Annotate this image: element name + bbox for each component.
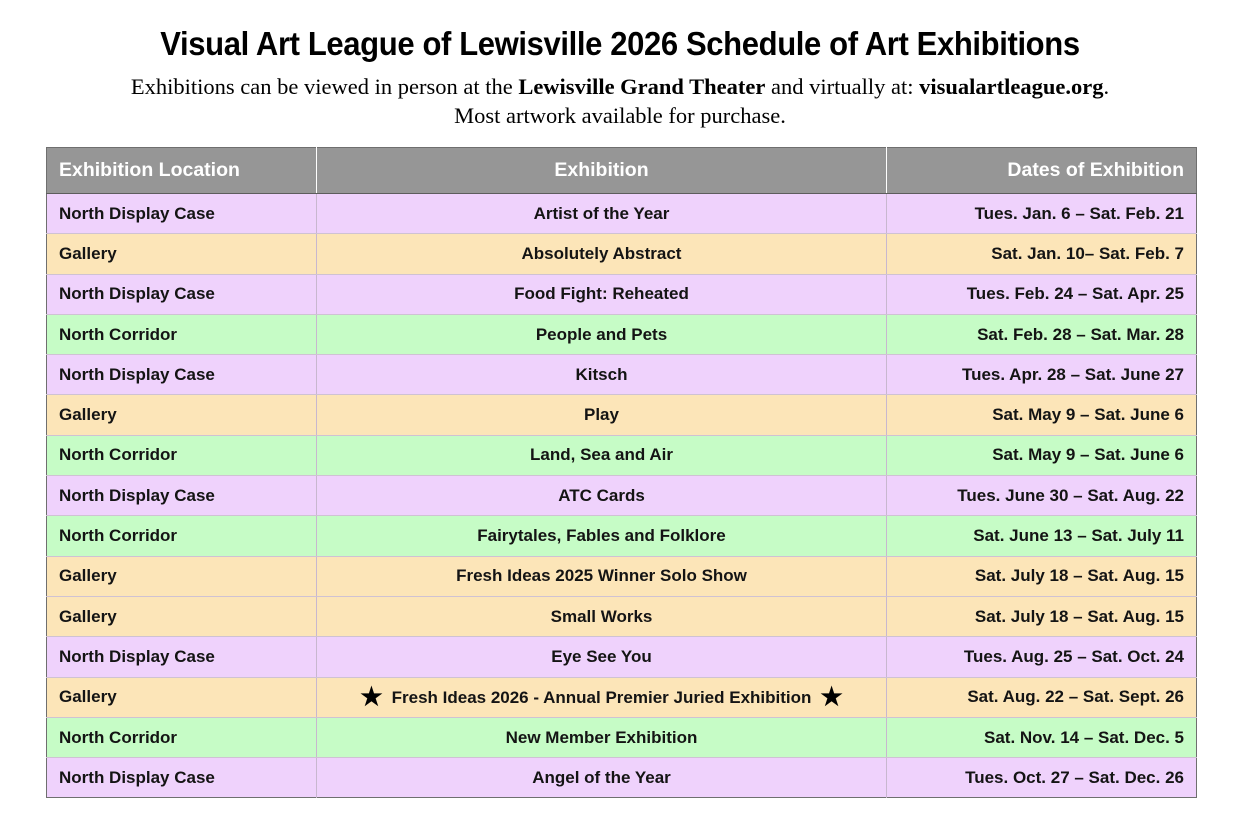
cell-location: North Corridor <box>47 435 317 475</box>
cell-exhibition: ★Fresh Ideas 2026 - Annual Premier Jurie… <box>317 677 887 717</box>
table-row: GallerySmall WorksSat. July 18 – Sat. Au… <box>47 596 1197 636</box>
cell-location: Gallery <box>47 596 317 636</box>
cell-exhibition: Small Works <box>317 596 887 636</box>
star-icon-left: ★ <box>360 685 382 710</box>
table-row: GalleryFresh Ideas 2025 Winner Solo Show… <box>47 556 1197 596</box>
cell-dates: Sat. Aug. 22 – Sat. Sept. 26 <box>887 677 1197 717</box>
cell-location: North Display Case <box>47 355 317 395</box>
cell-exhibition-label: Fresh Ideas 2026 - Annual Premier Juried… <box>392 688 812 707</box>
cell-exhibition: Fairytales, Fables and Folklore <box>317 516 887 556</box>
subtitle-text-part-2: and virtually at: <box>765 74 919 99</box>
website-link[interactable]: visualartleague.org <box>919 74 1103 99</box>
subtitle-text-part-1: Exhibitions can be viewed in person at t… <box>131 74 518 99</box>
cell-exhibition: Food Fight: Reheated <box>317 274 887 314</box>
cell-exhibition: Play <box>317 395 887 435</box>
table-row: North CorridorLand, Sea and AirSat. May … <box>47 435 1197 475</box>
document-page: Visual Art League of Lewisville 2026 Sch… <box>0 0 1240 827</box>
cell-location: North Corridor <box>47 314 317 354</box>
cell-dates: Sat. Jan. 10– Sat. Feb. 7 <box>887 234 1197 274</box>
cell-dates: Tues. Aug. 25 – Sat. Oct. 24 <box>887 637 1197 677</box>
cell-exhibition: Artist of the Year <box>317 194 887 234</box>
cell-dates: Sat. Feb. 28 – Sat. Mar. 28 <box>887 314 1197 354</box>
cell-location: North Display Case <box>47 637 317 677</box>
cell-location: North Display Case <box>47 476 317 516</box>
table-row: North Display CaseATC CardsTues. June 30… <box>47 476 1197 516</box>
cell-dates: Sat. July 18 – Sat. Aug. 15 <box>887 556 1197 596</box>
cell-location: Gallery <box>47 556 317 596</box>
venue-name: Lewisville Grand Theater <box>518 74 765 99</box>
column-header-exhibition: Exhibition <box>317 148 887 194</box>
schedule-table-container: Exhibition Location Exhibition Dates of … <box>46 147 1196 798</box>
cell-dates: Sat. June 13 – Sat. July 11 <box>887 516 1197 556</box>
table-row: North CorridorNew Member ExhibitionSat. … <box>47 717 1197 757</box>
cell-location: North Display Case <box>47 274 317 314</box>
table-row: North Display CaseKitschTues. Apr. 28 – … <box>47 355 1197 395</box>
table-header: Exhibition Location Exhibition Dates of … <box>47 148 1197 194</box>
subtitle-line-2: Most artwork available for purchase. <box>50 102 1190 131</box>
cell-exhibition: Angel of the Year <box>317 758 887 798</box>
cell-location: Gallery <box>47 677 317 717</box>
cell-exhibition: Kitsch <box>317 355 887 395</box>
table-row: North CorridorPeople and PetsSat. Feb. 2… <box>47 314 1197 354</box>
cell-location: Gallery <box>47 395 317 435</box>
schedule-table: Exhibition Location Exhibition Dates of … <box>46 147 1197 798</box>
cell-dates: Sat. May 9 – Sat. June 6 <box>887 435 1197 475</box>
cell-location: North Corridor <box>47 717 317 757</box>
heading-block: Visual Art League of Lewisville 2026 Sch… <box>0 0 1240 130</box>
cell-dates: Tues. Feb. 24 – Sat. Apr. 25 <box>887 274 1197 314</box>
cell-location: North Display Case <box>47 194 317 234</box>
cell-dates: Sat. May 9 – Sat. June 6 <box>887 395 1197 435</box>
subtitle-text-part-3: . <box>1103 74 1109 99</box>
cell-dates: Sat. July 18 – Sat. Aug. 15 <box>887 596 1197 636</box>
table-row: North CorridorFairytales, Fables and Fol… <box>47 516 1197 556</box>
table-row: GalleryAbsolutely AbstractSat. Jan. 10– … <box>47 234 1197 274</box>
cell-exhibition: Eye See You <box>317 637 887 677</box>
cell-exhibition: People and Pets <box>317 314 887 354</box>
table-body: North Display CaseArtist of the YearTues… <box>47 194 1197 798</box>
column-header-location: Exhibition Location <box>47 148 317 194</box>
cell-location: North Corridor <box>47 516 317 556</box>
table-row: Gallery★Fresh Ideas 2026 - Annual Premie… <box>47 677 1197 717</box>
subtitle: Exhibitions can be viewed in person at t… <box>30 73 1210 130</box>
cell-location: Gallery <box>47 234 317 274</box>
column-header-dates: Dates of Exhibition <box>887 148 1197 194</box>
cell-dates: Tues. June 30 – Sat. Aug. 22 <box>887 476 1197 516</box>
table-row: North Display CaseFood Fight: ReheatedTu… <box>47 274 1197 314</box>
cell-dates: Sat. Nov. 14 – Sat. Dec. 5 <box>887 717 1197 757</box>
cell-exhibition: ATC Cards <box>317 476 887 516</box>
cell-dates: Tues. Oct. 27 – Sat. Dec. 26 <box>887 758 1197 798</box>
cell-dates: Tues. Jan. 6 – Sat. Feb. 21 <box>887 194 1197 234</box>
cell-exhibition: New Member Exhibition <box>317 717 887 757</box>
table-row: North Display CaseArtist of the YearTues… <box>47 194 1197 234</box>
table-row: North Display CaseEye See YouTues. Aug. … <box>47 637 1197 677</box>
cell-exhibition: Land, Sea and Air <box>317 435 887 475</box>
table-row: North Display CaseAngel of the YearTues.… <box>47 758 1197 798</box>
page-title: Visual Art League of Lewisville 2026 Sch… <box>37 26 1203 63</box>
table-header-row: Exhibition Location Exhibition Dates of … <box>47 148 1197 194</box>
star-icon-right: ★ <box>820 685 842 710</box>
cell-exhibition: Absolutely Abstract <box>317 234 887 274</box>
table-row: GalleryPlaySat. May 9 – Sat. June 6 <box>47 395 1197 435</box>
cell-exhibition: Fresh Ideas 2025 Winner Solo Show <box>317 556 887 596</box>
cell-location: North Display Case <box>47 758 317 798</box>
cell-dates: Tues. Apr. 28 – Sat. June 27 <box>887 355 1197 395</box>
